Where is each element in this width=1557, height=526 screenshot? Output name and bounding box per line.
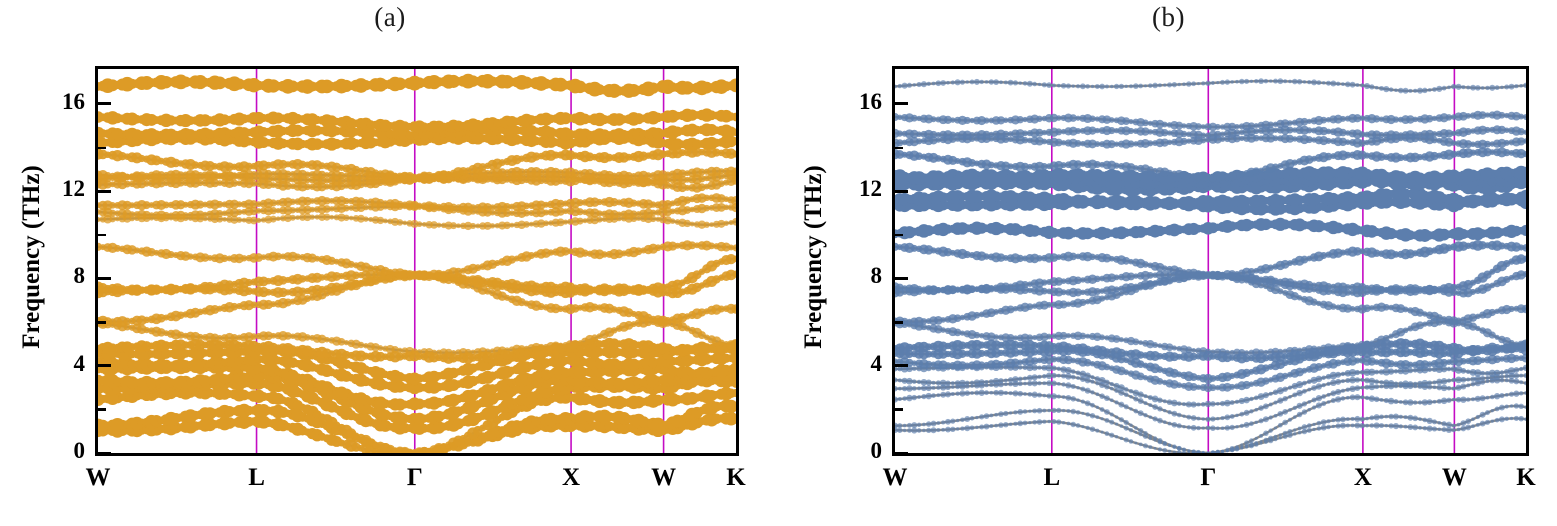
x-tick-label-L: L (237, 464, 277, 492)
y-major-tick (98, 190, 111, 193)
band-line (895, 418, 1526, 453)
y-tick-label: 8 (842, 263, 882, 289)
panel-b-band-canvas (895, 69, 1526, 453)
y-tick-label: 16 (842, 89, 882, 115)
band-weight-markers (895, 111, 1526, 132)
y-tick-label: 4 (45, 351, 85, 377)
band-weight-markers (895, 78, 1526, 94)
panel-a: (a) Frequency (THz) 0481216WLΓXWK (0, 0, 780, 526)
y-minor-tick (98, 147, 106, 150)
y-tick-label: 4 (842, 351, 882, 377)
band-weight-markers (895, 240, 1526, 280)
y-tick-label: 0 (842, 438, 882, 464)
x-tick-label-W: W (644, 464, 684, 492)
y-tick-label: 8 (45, 263, 85, 289)
x-tick-label-X: X (1343, 464, 1383, 492)
y-tick-label: 16 (45, 89, 85, 115)
x-tick-label-W: W (1434, 464, 1474, 492)
y-major-tick (98, 364, 111, 367)
x-tick-label-L: L (1032, 464, 1072, 492)
panel-b: (b) Frequency (THz) 0481216WLΓXWK (780, 0, 1557, 526)
y-minor-tick (895, 321, 903, 324)
y-major-tick (895, 190, 908, 193)
y-minor-tick (98, 234, 106, 237)
y-tick-label: 12 (842, 176, 882, 202)
y-major-tick (895, 277, 908, 280)
y-major-tick (98, 452, 111, 455)
y-major-tick (98, 277, 111, 280)
x-tick-label-Γ: Γ (395, 464, 435, 492)
panel-a-title: (a) (0, 2, 780, 33)
y-major-tick (895, 102, 908, 105)
panel-b-y-axis-label: Frequency (THz) (800, 157, 828, 357)
phonon-band-structure-figure: (a) Frequency (THz) 0481216WLΓXWK (b) Fr… (0, 0, 1557, 526)
x-tick-label-K: K (1506, 464, 1546, 492)
band-weight-markers (98, 240, 736, 280)
band-weight-markers (895, 271, 1526, 326)
y-minor-tick (895, 147, 903, 150)
panel-a-y-axis-label: Frequency (THz) (18, 157, 46, 357)
band-weight-markers (895, 218, 1526, 242)
x-tick-label-Γ: Γ (1188, 464, 1228, 492)
panel-a-plot-area (95, 66, 739, 456)
y-tick-label: 12 (45, 176, 85, 202)
y-tick-label: 0 (45, 438, 85, 464)
panel-a-band-canvas (98, 69, 736, 453)
x-tick-label-W: W (875, 464, 915, 492)
panel-b-title: (b) (780, 2, 1557, 33)
y-major-tick (895, 452, 908, 455)
y-minor-tick (98, 321, 106, 324)
x-tick-label-W: W (78, 464, 118, 492)
x-tick-label-X: X (551, 464, 591, 492)
panel-b-plot-area (892, 66, 1529, 456)
x-tick-label-K: K (716, 464, 756, 492)
y-minor-tick (98, 408, 106, 411)
y-major-tick (98, 102, 111, 105)
y-major-tick (895, 364, 908, 367)
band-weight-markers (98, 74, 736, 98)
y-minor-tick (895, 408, 903, 411)
y-minor-tick (895, 234, 903, 237)
